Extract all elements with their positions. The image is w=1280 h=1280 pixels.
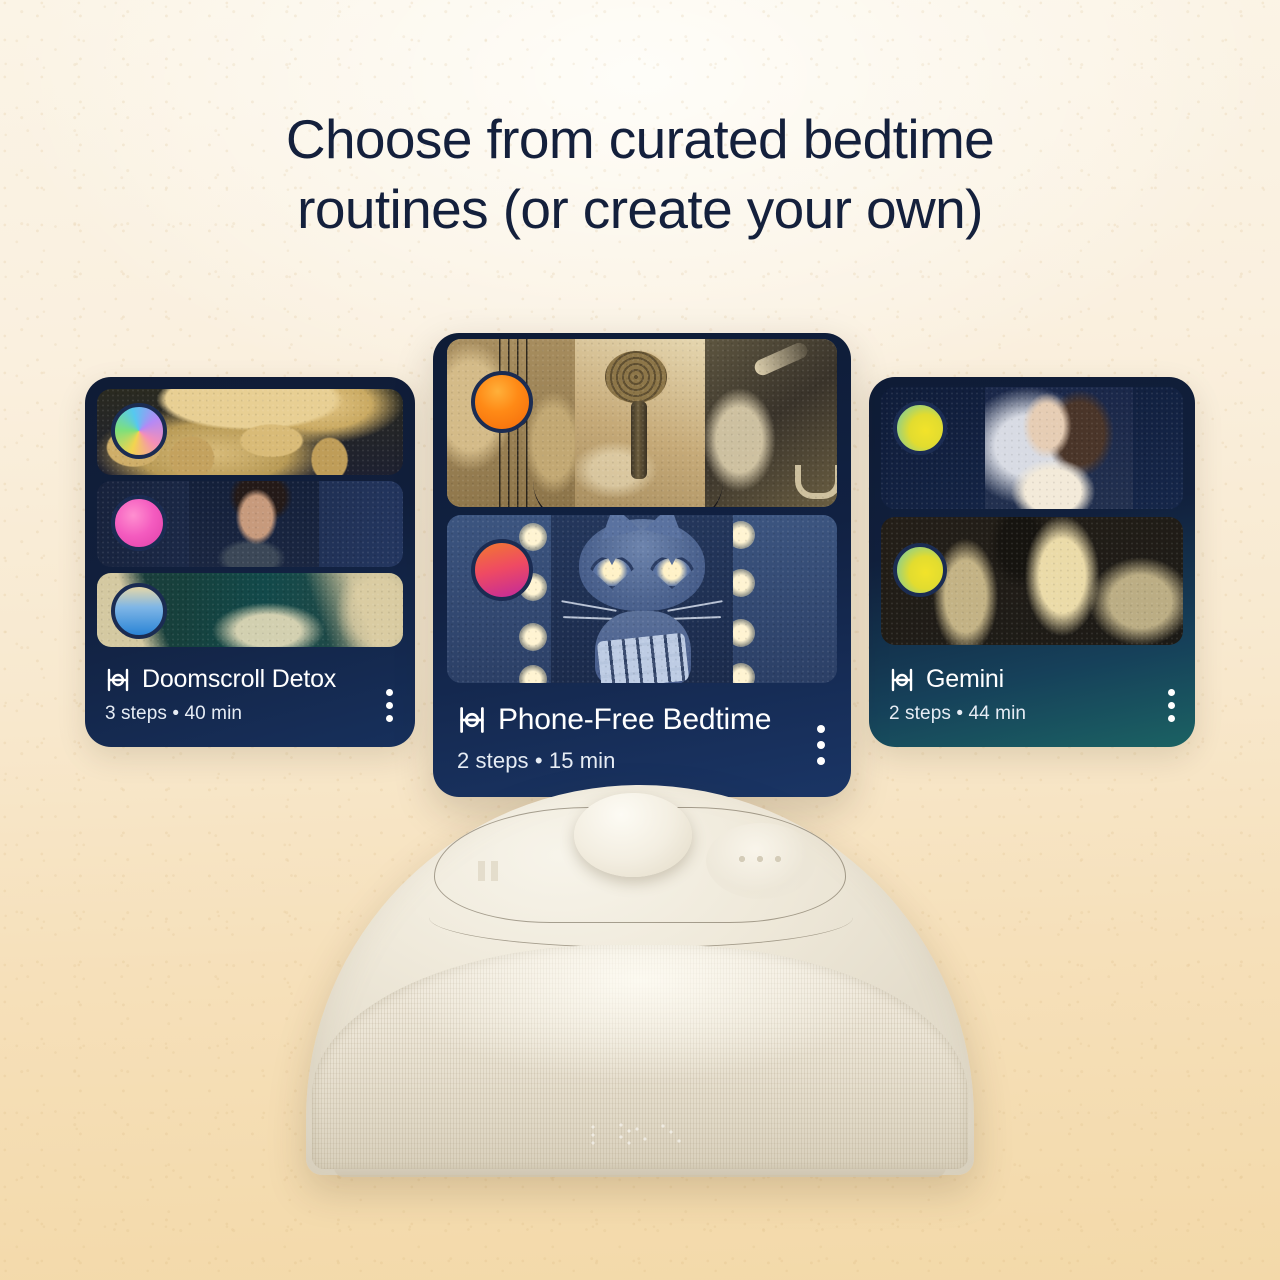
promo-page: Choose from curated bedtime routines (or… [0, 0, 1280, 1280]
next-button[interactable] [706, 823, 816, 899]
light-color-bubble-yellow-top [893, 401, 947, 455]
light-color-bubble-yellow-bottom [893, 543, 947, 597]
routine-card-gemini[interactable]: Gemini 2 steps • 44 min [869, 377, 1195, 747]
routine-title: Phone-Free Bedtime [498, 703, 771, 737]
routine-card-phone-free-bedtime[interactable]: Phone-Free Bedtime 2 steps • 15 min [433, 333, 851, 797]
pause-button[interactable] [478, 861, 504, 881]
routine-title: Gemini [926, 665, 1004, 694]
routine-card-meta: Doomscroll Detox 3 steps • 40 min [85, 649, 415, 725]
routine-title: Doomscroll Detox [142, 665, 336, 694]
page-title-line-2: routines (or create your own) [0, 174, 1280, 244]
light-color-bubble-blue [111, 583, 167, 639]
routine-preview-tiles [869, 377, 1195, 649]
routine-title-row: Doomscroll Detox [105, 665, 395, 694]
routine-card-doomscroll-detox[interactable]: Doomscroll Detox 3 steps • 40 min [85, 377, 415, 747]
kebab-menu-icon[interactable] [1168, 689, 1175, 722]
routine-icon [105, 667, 131, 693]
routine-icon [889, 667, 915, 693]
routine-subtitle: 2 steps • 44 min [889, 703, 1175, 725]
routine-title-row: Phone-Free Bedtime [457, 703, 827, 737]
light-color-bubble-magenta [471, 539, 533, 601]
rotary-knob[interactable] [574, 793, 692, 877]
light-color-bubble-orange [471, 371, 533, 433]
device-base-edge [334, 1163, 946, 1177]
page-title-line-1: Choose from curated bedtime [0, 104, 1280, 174]
light-color-bubble-pink [111, 495, 167, 551]
routine-subtitle: 3 steps • 40 min [105, 703, 395, 725]
routine-preview-tiles [433, 333, 851, 691]
kebab-menu-icon[interactable] [386, 689, 393, 722]
bedside-speaker-device [306, 785, 974, 1175]
routine-card-meta: Phone-Free Bedtime 2 steps • 15 min [433, 691, 851, 774]
dot-matrix-display [585, 1121, 695, 1149]
routine-preview-tiles [85, 377, 415, 649]
light-color-bubble-rainbow [111, 403, 167, 459]
routine-icon [457, 705, 487, 735]
routine-subtitle: 2 steps • 15 min [457, 748, 827, 774]
routine-title-row: Gemini [889, 665, 1175, 694]
routine-card-meta: Gemini 2 steps • 44 min [869, 649, 1195, 725]
kebab-menu-icon[interactable] [817, 725, 825, 765]
page-title: Choose from curated bedtime routines (or… [0, 104, 1280, 245]
